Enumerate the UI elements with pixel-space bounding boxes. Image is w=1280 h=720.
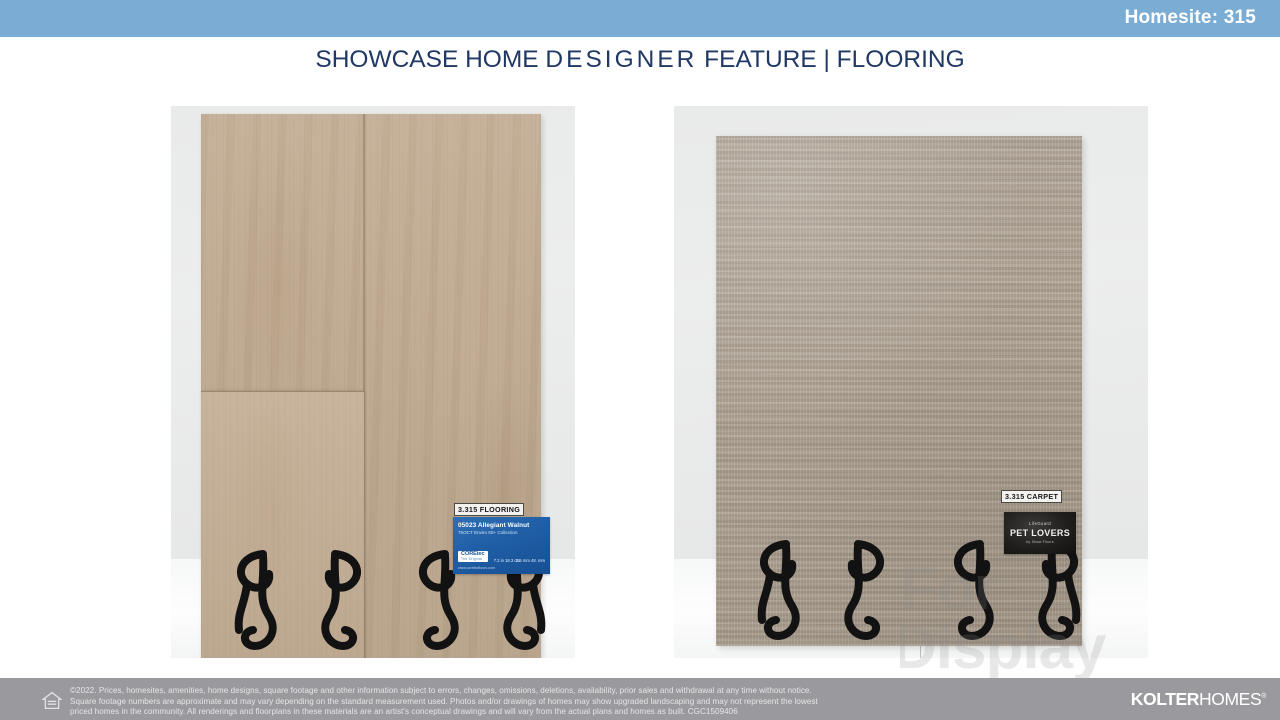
coretec-spec-thickness: 2.5 mm 48. mm: [516, 558, 545, 564]
coretec-logo-tagline: The Original: [461, 558, 485, 561]
flooring-tag-label: 3.315 FLOORING: [454, 503, 524, 516]
equal-housing-opportunity-icon: [41, 690, 63, 711]
disclaimer-line-3: priced homes in the community. All rende…: [70, 707, 1080, 718]
coretec-website: www.coretecfloors.com: [458, 566, 495, 570]
pet-lovers-title: PET LOVERS: [1004, 528, 1076, 538]
page-title-part3: FEATURE | FLOORING: [697, 46, 964, 73]
header-band: Homesite: 315: [0, 0, 1280, 37]
carpet-sample-photo: 3.315 CARPET LifeGuard PET LOVERS by Sha…: [674, 106, 1148, 658]
page-title-part1: SHOWCASE HOME: [315, 46, 545, 73]
legal-disclaimer: ©2022. Prices, homesites, amenities, hom…: [70, 686, 1080, 718]
coretec-product-sticker: 05023 Allegiant Walnut 75OCT Enviro 60+ …: [453, 517, 550, 574]
kolter-logo-light: HOMES: [1199, 689, 1261, 709]
easel-stand-left: [752, 536, 892, 658]
coretec-product-name: 05023 Allegiant Walnut: [458, 522, 529, 529]
disclaimer-line-1: ©2022. Prices, homesites, amenities, hom…: [70, 686, 1080, 697]
coretec-logo: COREtec The Original: [458, 551, 488, 562]
page-title-part2: DESIGNER: [545, 46, 697, 73]
kolter-homes-logo: KOLTERHOMES®: [1131, 689, 1266, 710]
slide-root: Homesite: 315 SHOWCASE HOME DESIGNER FEA…: [0, 0, 1280, 720]
page-title: SHOWCASE HOME DESIGNER FEATURE | FLOORIN…: [0, 46, 1280, 74]
flooring-sample-photo: 3.315 FLOORING 05023 Allegiant Walnut 75…: [171, 106, 575, 658]
pet-lovers-medallion: LifeGuard PET LOVERS by Shaw Floors: [1004, 512, 1076, 554]
pet-lovers-subtitle: by Shaw Floors: [1004, 540, 1076, 544]
disclaimer-line-2: Square footage numbers are approximate a…: [70, 697, 1080, 708]
easel-stand-left: [229, 546, 369, 658]
homesite-label: Homesite: 315: [1125, 7, 1256, 29]
kolter-logo-bold: KOLTER: [1131, 689, 1199, 709]
easel-stand-right: [946, 536, 1086, 658]
pet-lovers-brand: LifeGuard: [1004, 521, 1076, 526]
coretec-product-subtitle: 75OCT Enviro 60+ Collection: [458, 530, 518, 535]
kolter-logo-registered: ®: [1261, 693, 1266, 700]
carpet-tag-label: 3.315 CARPET: [1001, 490, 1062, 503]
